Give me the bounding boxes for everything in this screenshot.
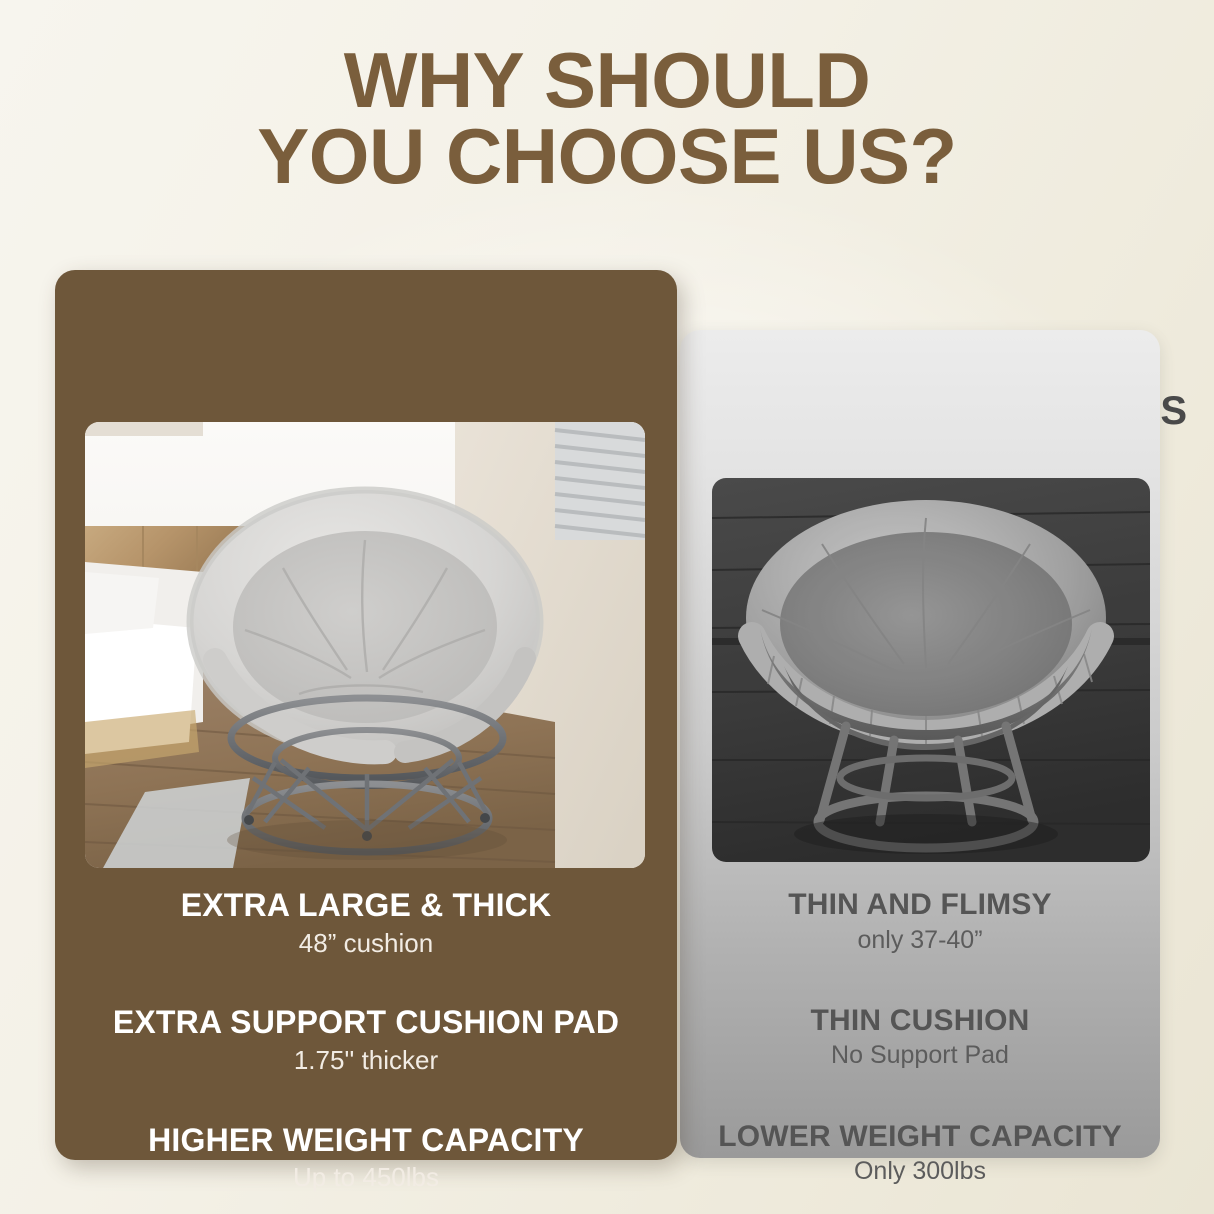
feature-subtitle: only 37-40” <box>680 925 1160 956</box>
page-title-line-2: YOU CHOOSE US? <box>0 118 1214 194</box>
feature-subtitle: Only 300lbs <box>680 1156 1160 1187</box>
feature-item: EXTRA LARGE & THICK 48” cushion <box>55 888 677 959</box>
feature-title: HIGHER WEIGHT CAPACITY <box>55 1123 677 1159</box>
feature-title: EXTRA SUPPORT CUSHION PAD <box>55 1005 677 1041</box>
other-products-features: THIN AND FLIMSY only 37-40” THIN CUSHION… <box>680 888 1160 1188</box>
feature-item: LOWER WEIGHT CAPACITY Only 300lbs <box>680 1120 1160 1188</box>
feature-title: THIN AND FLIMSY <box>680 888 1160 922</box>
feature-subtitle: 1.75'' thicker <box>55 1044 677 1077</box>
feature-item: HIGHER WEIGHT CAPACITY Up to 450lbs <box>55 1123 677 1194</box>
feature-subtitle: 48” cushion <box>55 927 677 960</box>
feature-subtitle: No Support Pad <box>680 1040 1160 1071</box>
page-title: WHY SHOULD YOU CHOOSE US? <box>0 42 1214 195</box>
other-product-photo <box>712 478 1150 862</box>
feature-item: EXTRA SUPPORT CUSHION PAD 1.75'' thicker <box>55 1005 677 1076</box>
feature-item: THIN CUSHION No Support Pad <box>680 1004 1160 1072</box>
our-product-photo <box>85 422 645 868</box>
infographic-root: WHY SHOULD YOU CHOOSE US? OUR PRODUCTS <box>0 0 1214 1214</box>
feature-title: THIN CUSHION <box>680 1004 1160 1038</box>
feature-title: EXTRA LARGE & THICK <box>55 888 677 924</box>
feature-item: THIN AND FLIMSY only 37-40” <box>680 888 1160 956</box>
our-products-features: EXTRA LARGE & THICK 48” cushion EXTRA SU… <box>55 888 677 1194</box>
feature-subtitle: Up to 450lbs <box>55 1161 677 1194</box>
feature-title: LOWER WEIGHT CAPACITY <box>680 1120 1160 1154</box>
page-title-line-1: WHY SHOULD <box>344 36 871 124</box>
